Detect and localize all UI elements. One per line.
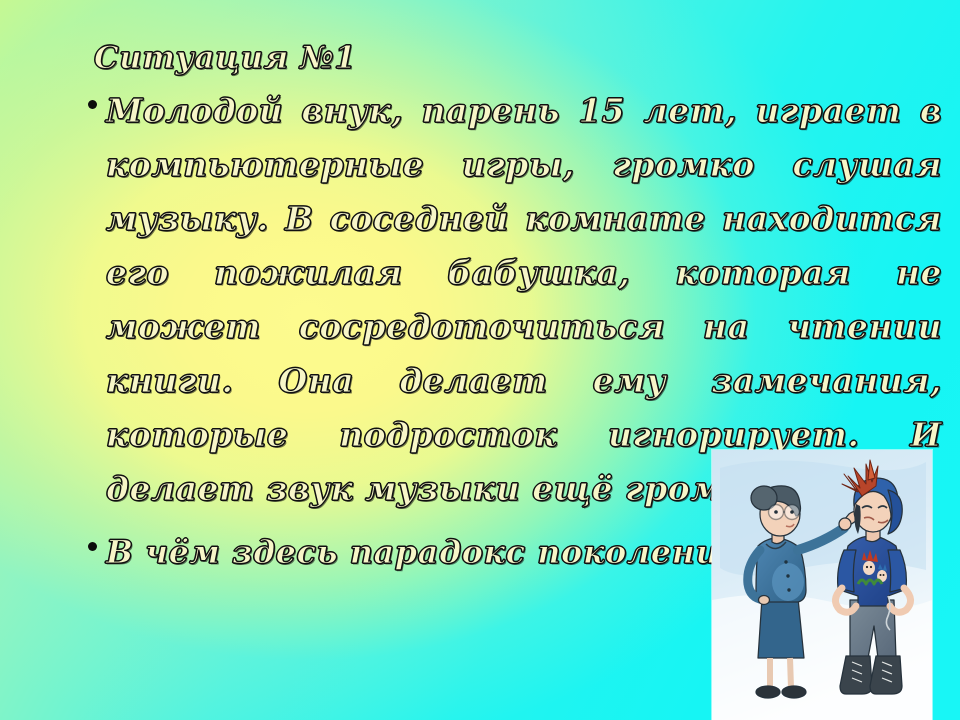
page-title: Ситуация №1 [94,36,942,80]
bullet-dot-icon [88,542,97,551]
illustration-grandmother-and-teenager [712,450,932,720]
illustration-drawing [712,450,932,720]
bullet-dot-icon [88,100,97,109]
slide-canvas: Ситуация №1 Молодой внук, парень 15 лет,… [0,0,960,720]
